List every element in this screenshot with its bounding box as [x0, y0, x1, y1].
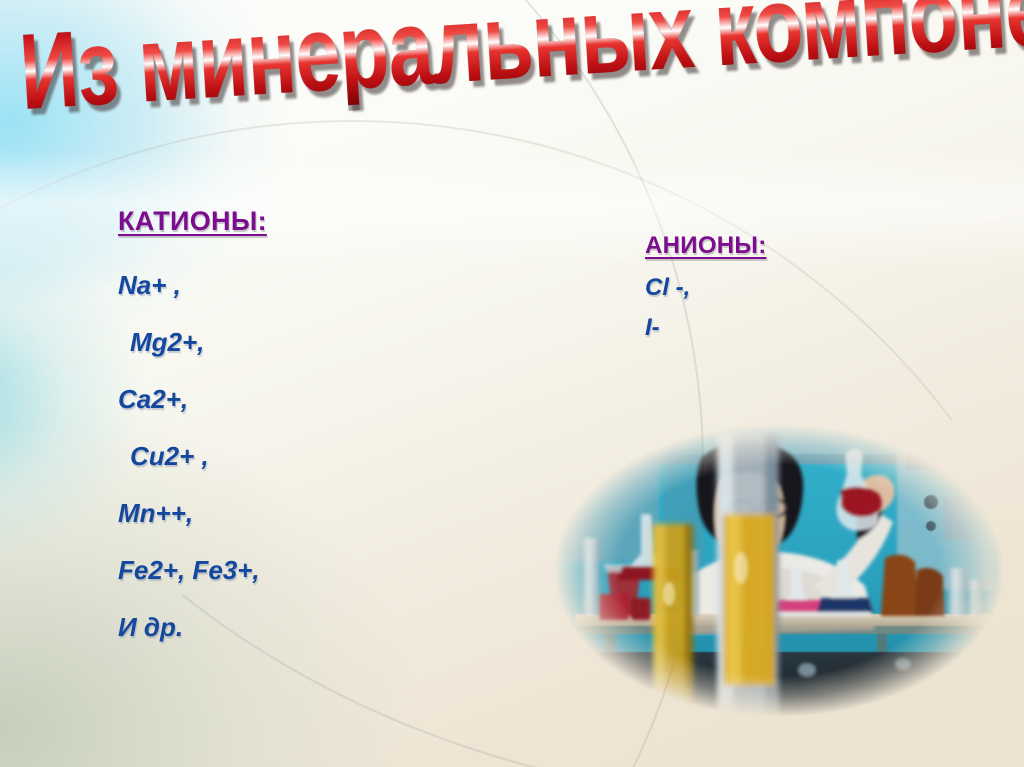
cation-item: Mg2+, — [118, 314, 458, 371]
cation-item: Na+ , — [118, 257, 458, 314]
laboratory-photo-illustration — [545, 418, 1013, 723]
cation-item: Fe2+, Fe3+, — [118, 542, 458, 599]
anions-column: АНИОНЫ: Cl -,I- — [645, 232, 945, 348]
cations-column: КАТИОНЫ: Na+ ,Mg2+,Ca2+,Cu2+ ,Mn++,Fe2+,… — [118, 206, 458, 656]
slide-canvas: Из минеральных компонентов: Из минеральн… — [0, 0, 1024, 767]
slide-title-text: Из минеральных компонентов: — [17, 0, 1024, 126]
slide-title-wordart: Из минеральных компонентов: Из минеральн… — [12, 14, 1022, 154]
cation-item: Mn++, — [118, 485, 458, 542]
cation-item: Cu2+ , — [118, 428, 458, 485]
anions-heading: АНИОНЫ: — [645, 232, 945, 260]
anion-item: I- — [645, 308, 945, 348]
cation-item: И др. — [118, 599, 458, 656]
cations-list: Na+ ,Mg2+,Ca2+,Cu2+ ,Mn++,Fe2+, Fe3+,И д… — [118, 257, 458, 656]
anions-list: Cl -,I- — [645, 268, 945, 348]
cation-item: Ca2+, — [118, 371, 458, 428]
cations-heading: КАТИОНЫ: — [118, 206, 458, 237]
anion-item: Cl -, — [645, 268, 945, 308]
laboratory-photo — [545, 418, 1013, 723]
